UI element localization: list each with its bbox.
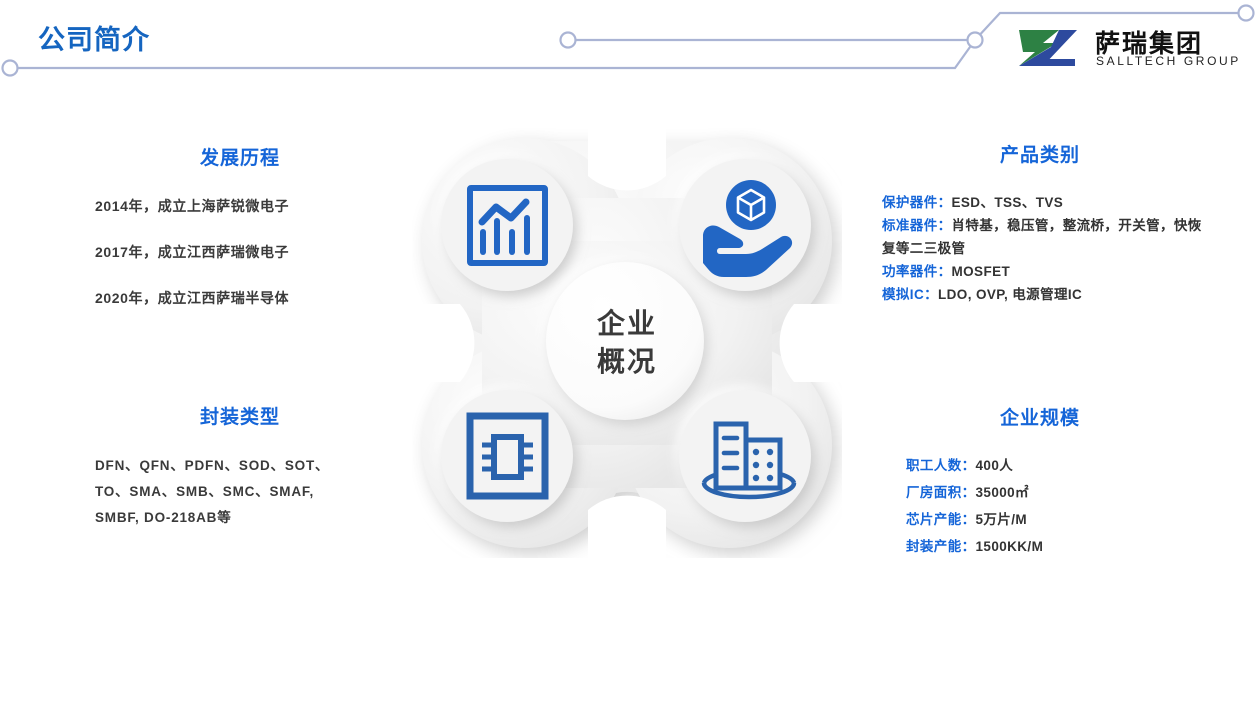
product-value: MOSFET: [952, 264, 1011, 279]
node-right: [1239, 6, 1254, 21]
panel-title-product: 产品类别: [870, 140, 1210, 167]
scale-label: 职工人数：: [906, 458, 976, 473]
page-header: 公司简介 萨瑞集团 SALLTECH GROUP: [0, 0, 1257, 100]
product-row: 功率器件：MOSFET: [882, 260, 1202, 283]
product-label: 模拟IC：: [882, 287, 938, 302]
scale-value: 400人: [976, 458, 1014, 473]
scale-label: 厂房面积：: [906, 485, 976, 500]
history-item: 2017年，成立江西萨瑞微电子: [95, 242, 420, 262]
product-label: 功率器件：: [882, 264, 952, 279]
company-scale-list: 职工人数：400人 厂房面积：35000㎡ 芯片产能：5万片/M 封装产能：15…: [906, 452, 1210, 560]
scale-row: 厂房面积：35000㎡: [906, 479, 1210, 506]
product-category-list: 保护器件：ESD、TSS、TVS 标准器件：肖特基，稳压管，整流桥，开关管，快恢…: [882, 191, 1202, 306]
panel-title-history: 发展历程: [60, 143, 420, 170]
product-row: 保护器件：ESD、TSS、TVS: [882, 191, 1202, 214]
scale-value: 35000㎡: [976, 485, 1029, 500]
center-infographic: 企业 概况: [412, 128, 842, 558]
logo-name-en: SALLTECH GROUP: [1096, 54, 1241, 68]
panel-development-history: 发展历程 2014年，成立上海萨锐微电子 2017年，成立江西萨瑞微电子 202…: [60, 143, 420, 334]
icon-circle-top-left[interactable]: [441, 159, 573, 291]
product-row: 标准器件：肖特基，稳压管，整流桥，开关管，快恢复等二三极管: [882, 214, 1202, 260]
scale-row: 职工人数：400人: [906, 452, 1210, 479]
package-type-list: DFN、QFN、PDFN、SOD、SOT、TO、SMA、SMB、SMC、SMAF…: [95, 453, 350, 531]
product-value: LDO, OVP, 电源管理IC: [938, 287, 1082, 302]
scale-row: 封装产能：1500KK/M: [906, 533, 1210, 560]
scale-label: 封装产能：: [906, 539, 976, 554]
panel-title-scale: 企业规模: [870, 403, 1210, 430]
page-title: 公司简介: [38, 18, 150, 57]
product-row: 模拟IC：LDO, OVP, 电源管理IC: [882, 283, 1202, 306]
scale-value: 1500KK/M: [976, 539, 1044, 554]
scale-value: 5万片/M: [976, 512, 1028, 527]
company-logo: 萨瑞集团 SALLTECH GROUP: [1013, 24, 1245, 72]
history-item: 2014年，成立上海萨锐微电子: [95, 196, 420, 216]
node-left: [3, 61, 18, 76]
product-value: ESD、TSS、TVS: [952, 195, 1064, 210]
scale-row: 芯片产能：5万片/M: [906, 506, 1210, 533]
history-item: 2020年，成立江西萨瑞半导体: [95, 288, 420, 308]
icon-circle-bottom-left[interactable]: [441, 390, 573, 522]
panel-title-package: 封装类型: [60, 402, 420, 429]
panel-company-scale: 企业规模 职工人数：400人 厂房面积：35000㎡ 芯片产能：5万片/M 封装…: [870, 403, 1210, 560]
product-label: 标准器件：: [882, 218, 952, 233]
panel-product-categories: 产品类别 保护器件：ESD、TSS、TVS 标准器件：肖特基，稳压管，整流桥，开…: [870, 140, 1210, 306]
node-junction: [968, 33, 983, 48]
product-label: 保护器件：: [882, 195, 952, 210]
panel-package-types: 封装类型 DFN、QFN、PDFN、SOD、SOT、TO、SMA、SMB、SMC…: [60, 402, 420, 531]
salltech-logo-mark-icon: [1013, 26, 1085, 70]
node-middle: [561, 33, 576, 48]
scale-label: 芯片产能：: [906, 512, 976, 527]
center-core: [546, 262, 704, 420]
